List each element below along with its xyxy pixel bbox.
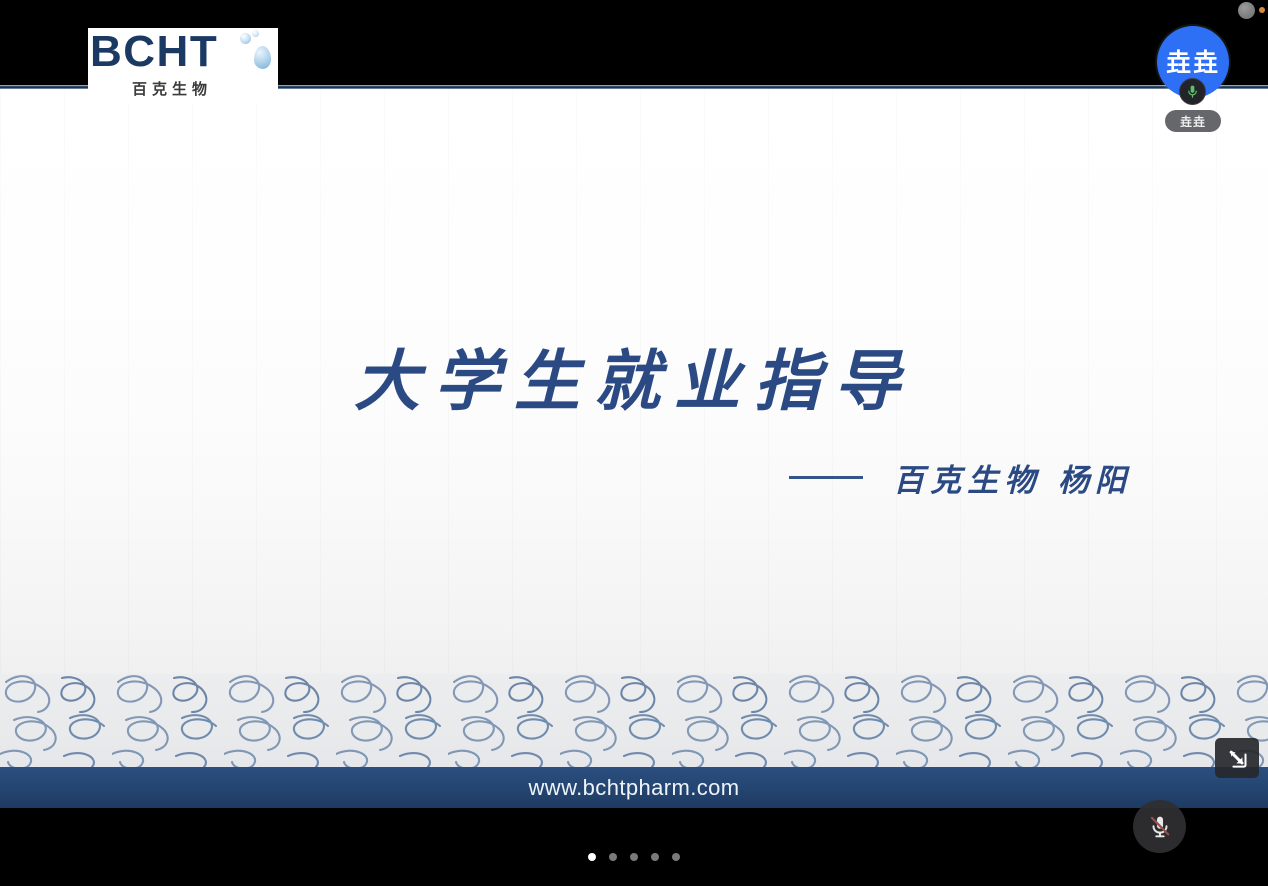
pagination-dot-2[interactable] [609,853,617,861]
microphone-muted-icon [1147,814,1173,840]
pagination-dot-1[interactable] [588,853,596,861]
recording-indicator-icon [1238,2,1255,19]
participant-display-name: 垚垚 [1180,113,1206,130]
brand-logo: BCHT 百克生物 [88,28,278,103]
slide-title: 大学生就业指导 [0,328,1268,424]
bottom-control-bar [0,808,1268,886]
byline-author: 百克生物 杨阳 [893,455,1132,500]
microphone-icon [1185,84,1200,99]
presentation-viewer-app: 大学生就业指导 百克生物 杨阳 [0,0,1268,886]
slide-canvas[interactable]: 大学生就业指导 百克生物 杨阳 [0,85,1268,808]
byline-dash-rule [789,476,863,479]
resize-expand-icon [1225,746,1249,770]
slide-byline: 百克生物 杨阳 [0,455,1268,500]
avatar-initials: 垚垚 [1166,50,1220,75]
resize-expand-button[interactable] [1215,738,1259,778]
logo-chinese-name: 百克生物 [132,78,278,99]
pagination-dot-5[interactable] [672,853,680,861]
mute-toggle-button[interactable] [1133,800,1186,853]
slide-footer-bar: www.bchtpharm.com [0,767,1268,808]
participant-self-view[interactable]: 垚垚 垚垚 [1157,26,1229,136]
slide-pagination[interactable] [0,853,1268,861]
pagination-dot-4[interactable] [651,853,659,861]
participant-mic-status [1179,78,1206,105]
bubble-mark-icon [232,28,278,74]
pagination-dot-3[interactable] [630,853,638,861]
participant-name-chip: 垚垚 [1165,110,1221,132]
footer-website-url: www.bchtpharm.com [529,775,740,801]
decorative-swirl-band [0,674,1268,767]
notification-indicator-icon [1259,7,1265,13]
